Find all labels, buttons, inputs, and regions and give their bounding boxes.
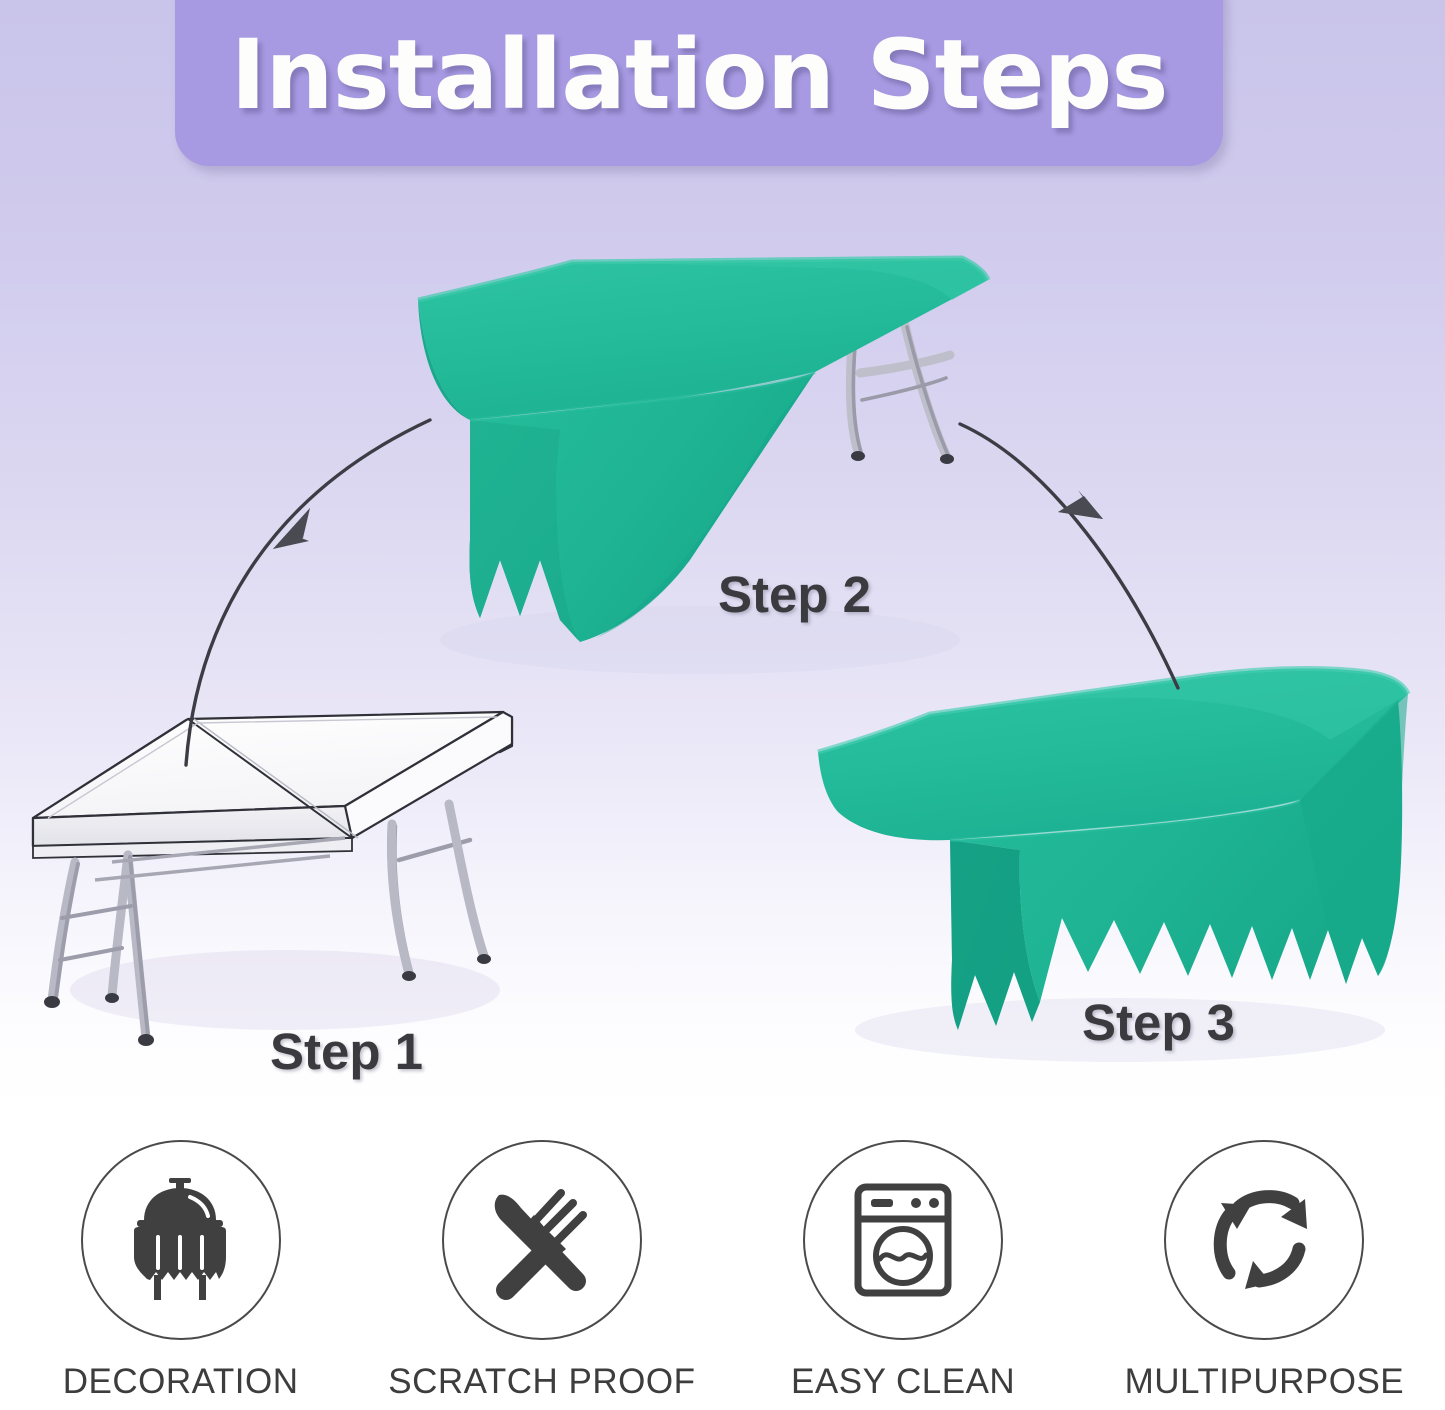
washing-machine-icon	[840, 1177, 966, 1303]
step-1-label: Step 1	[270, 1022, 423, 1081]
feature-easy-clean-label: EASY CLEAN	[791, 1362, 1015, 1402]
step-2-label: Step 2	[718, 565, 871, 624]
feature-scratch-proof-label: SCRATCH PROOF	[388, 1362, 695, 1402]
background-gradient	[0, 0, 1445, 1110]
feature-scratch-proof-circle	[442, 1140, 642, 1340]
infographic-page: Installation Steps	[0, 0, 1445, 1410]
feature-icons-row: DECORATION SCRATCH PROOF	[0, 1140, 1445, 1410]
step-3-label: Step 3	[1082, 993, 1235, 1052]
feature-easy-clean: EASY CLEAN	[733, 1140, 1073, 1402]
page-title: Installation Steps	[175, 20, 1223, 130]
feature-decoration-circle	[81, 1140, 281, 1340]
knife-fork-icon	[477, 1175, 607, 1305]
feature-scratch-proof: SCRATCH PROOF	[372, 1140, 712, 1402]
feature-easy-clean-circle	[803, 1140, 1003, 1340]
feature-multipurpose: MULTIPURPOSE	[1094, 1140, 1434, 1402]
feature-multipurpose-circle	[1164, 1140, 1364, 1340]
feature-multipurpose-label: MULTIPURPOSE	[1125, 1362, 1405, 1402]
recycle-arrows-icon	[1201, 1177, 1327, 1303]
feature-decoration: DECORATION	[11, 1140, 351, 1402]
covered-table-cloche-icon	[116, 1175, 246, 1305]
feature-decoration-label: DECORATION	[63, 1362, 299, 1402]
